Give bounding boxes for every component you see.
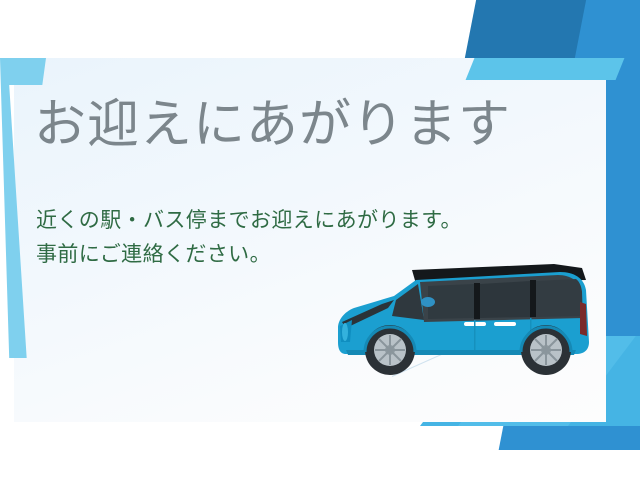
pickup-service-banner: お迎えにあがります 近くの駅・バス停までお迎えにあがります。 事前にご連絡くださ…: [0, 0, 640, 480]
minivan-illustration: [324, 250, 614, 390]
car-rear-rim-spokes: [531, 335, 561, 365]
car-tail-light: [580, 302, 587, 336]
car-rear-window: [536, 279, 582, 317]
car-door-seam-1: [474, 320, 476, 354]
car-b-pillar: [474, 283, 480, 319]
car-front-rim-spokes: [375, 335, 405, 365]
car-headlight-lens: [342, 323, 348, 341]
banner-body-line-1: 近くの駅・バス停までお迎えにあがります。: [36, 204, 462, 238]
car-c-pillar: [530, 280, 536, 317]
car-middle-window: [480, 281, 530, 318]
car-rear-door-handle: [494, 322, 516, 326]
banner-headline: お迎えにあがります: [34, 96, 511, 156]
car-side-mirror: [421, 297, 435, 307]
